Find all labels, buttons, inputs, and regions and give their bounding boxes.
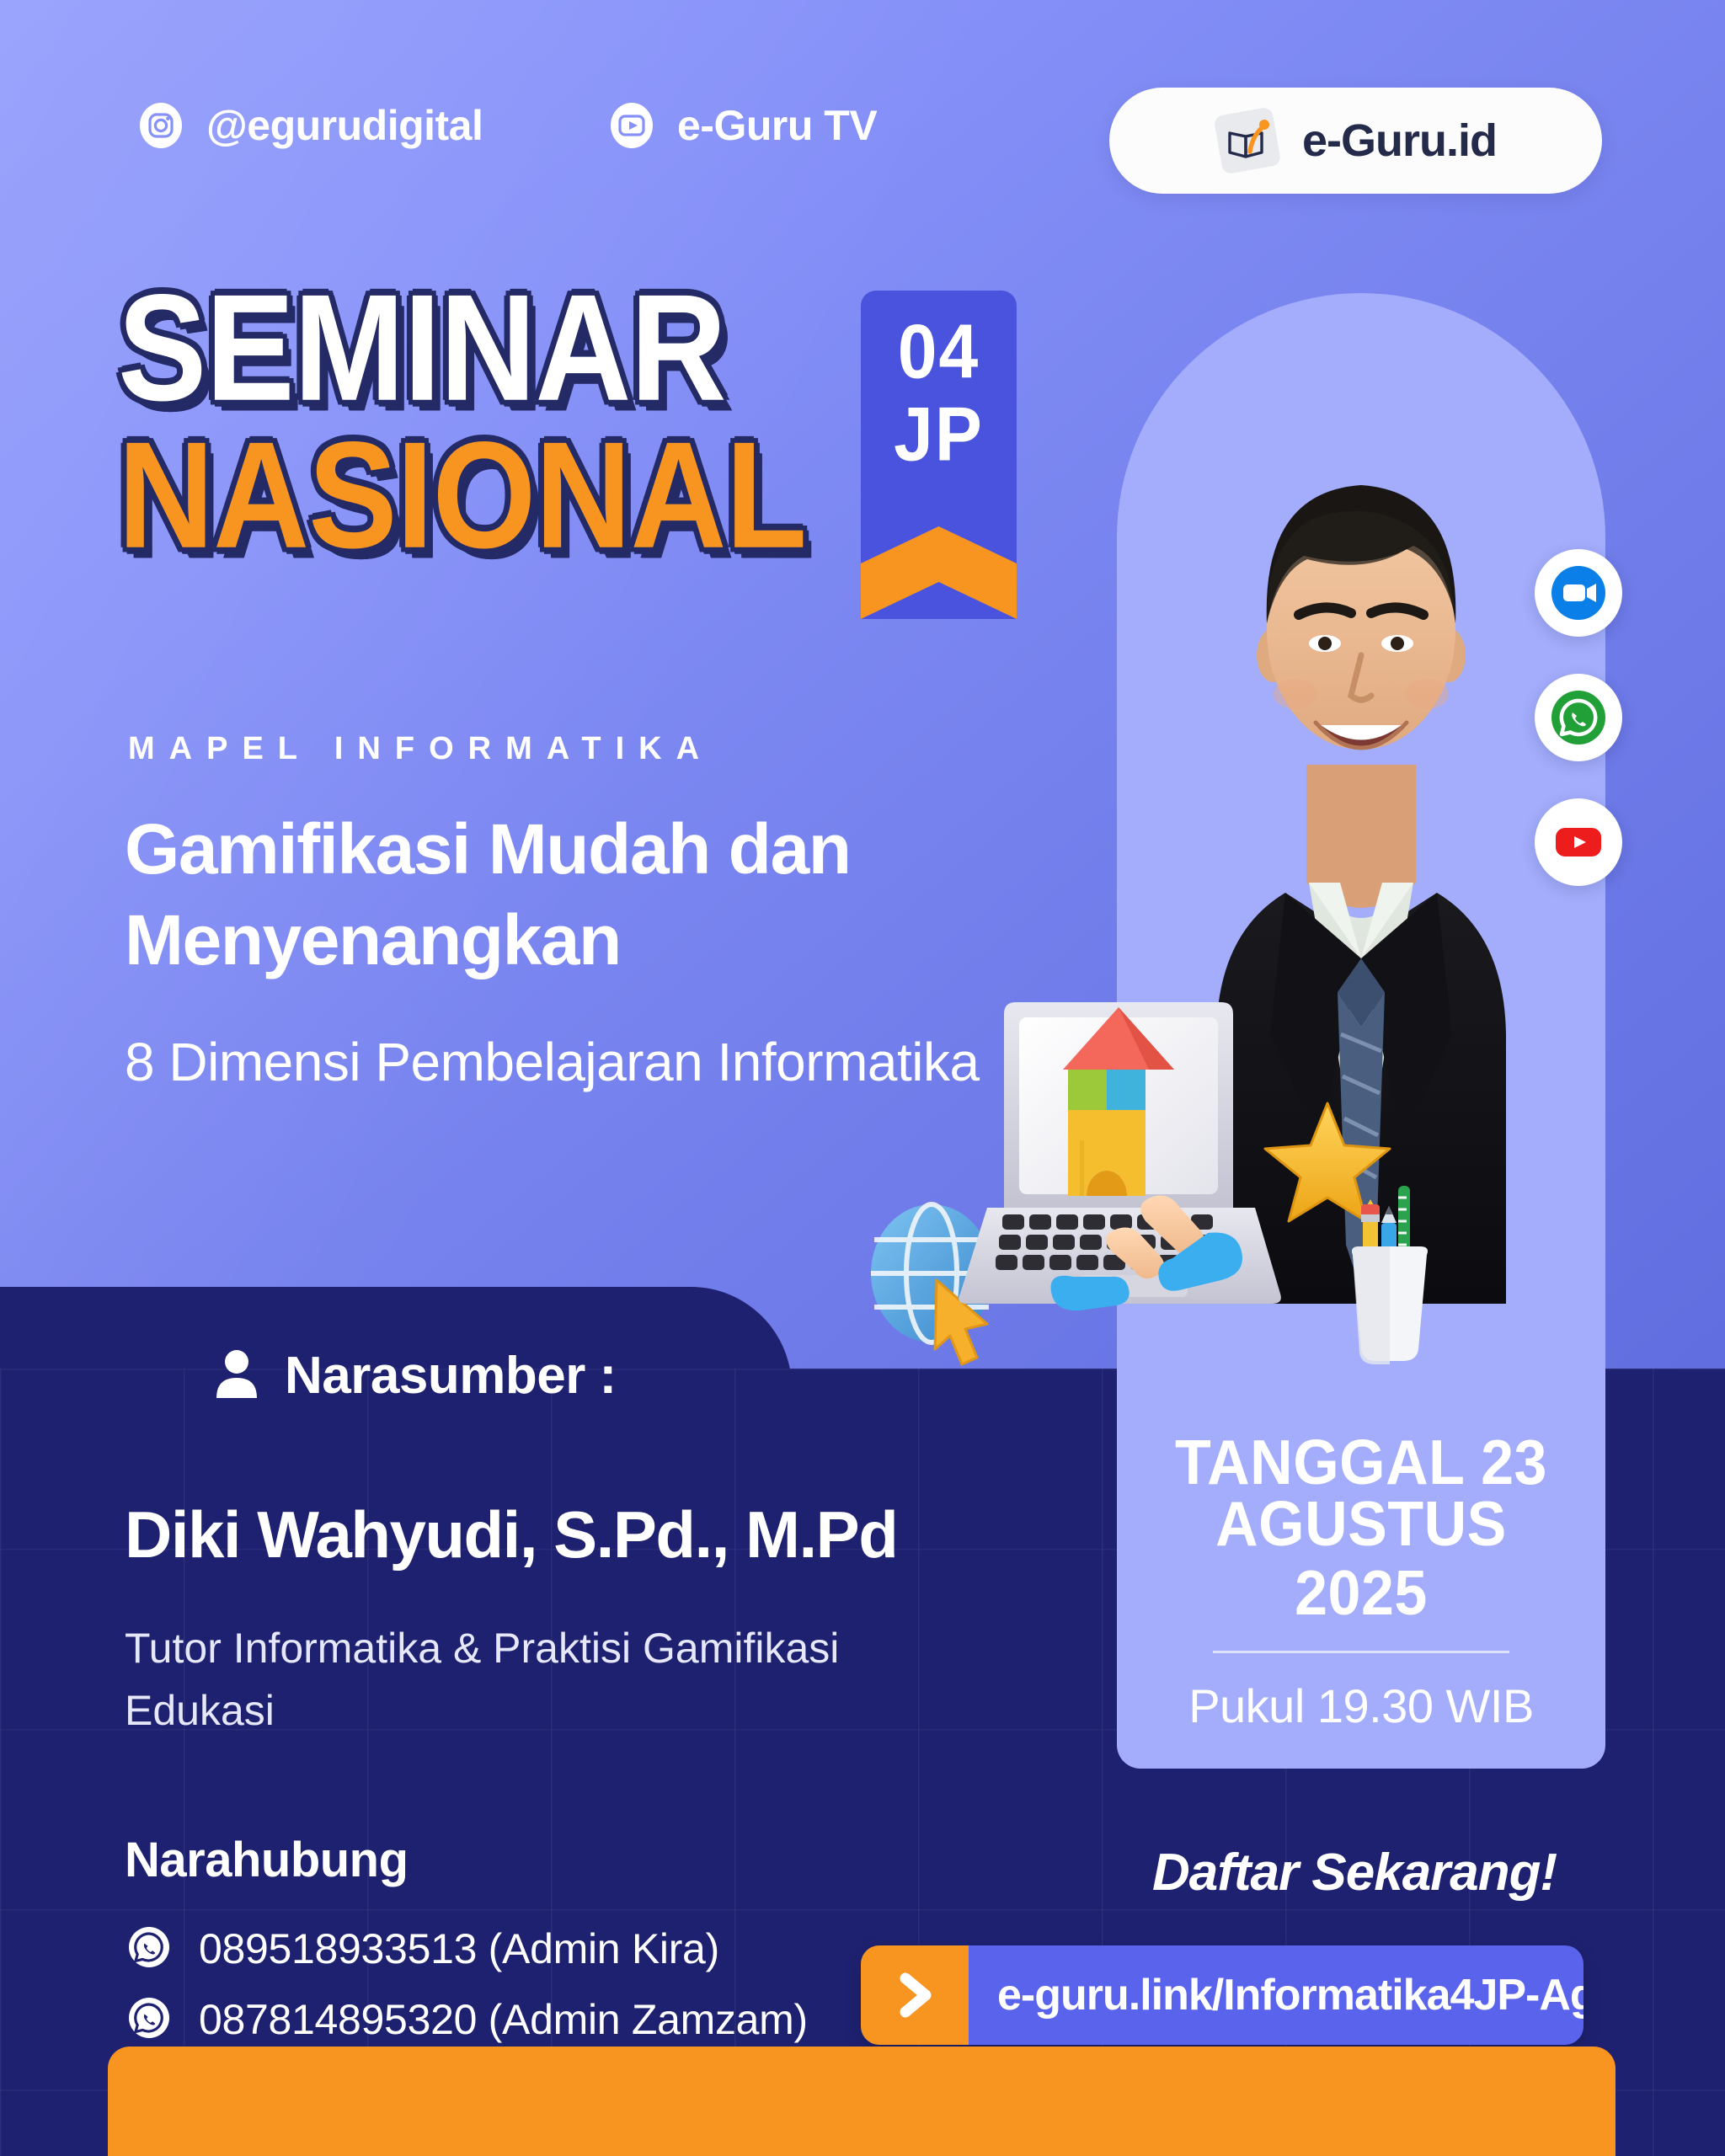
speaker-photo — [1117, 293, 1605, 1304]
whatsapp-icon[interactable] — [1535, 674, 1622, 761]
jp-count: 04 — [898, 313, 980, 390]
book-logo-icon — [1215, 108, 1280, 173]
speaker-section-label: Narasumber : — [285, 1346, 617, 1406]
speaker-role: Tutor Informatika & Praktisi Gamifikasi … — [125, 1617, 933, 1742]
seminar-poster: @egurudigital e-Guru TV e — [0, 0, 1725, 2156]
speaker-name: Diki Wahyudi, S.Pd., M.Pd — [125, 1497, 897, 1573]
register-link-button[interactable]: e-guru.link/Informatika4JP-Ags25 — [861, 1945, 1583, 2045]
title-line-nasional: NASIONAL — [118, 425, 893, 567]
header-instagram[interactable]: @egurudigital — [137, 101, 483, 150]
jp-unit: JP — [894, 396, 984, 472]
header-youtube[interactable]: e-Guru TV — [608, 101, 877, 150]
subject-headline: Gamifikasi Mudah dan Menyenangkan — [125, 804, 1017, 985]
instagram-handle: @egurudigital — [206, 101, 483, 150]
zoom-icon[interactable] — [1535, 549, 1622, 637]
schedule-block: TANGGAL 23 AGUSTUS 2025 Pukul 19.30 WIB — [1117, 1431, 1605, 1733]
register-url: e-guru.link/Informatika4JP-Ags25 — [969, 1945, 1583, 2045]
title-block: SEMINAR NASIONAL — [118, 278, 893, 549]
contact-list: 089518933513 (Admin Kira) 087814895320 (… — [128, 1924, 808, 2044]
title-line-seminar: SEMINAR — [118, 278, 893, 419]
brand-badge[interactable]: e-Guru.id — [1109, 88, 1602, 194]
chevron-right-icon — [861, 1945, 969, 2045]
youtube-icon[interactable] — [1535, 798, 1622, 886]
subject-subheadline: 8 Dimensi Pembelajaran Informatika — [125, 1023, 1034, 1102]
subject-kicker: MAPEL INFORMATIKA — [128, 731, 713, 767]
jp-ribbon-badge: 04 JP — [861, 291, 1017, 619]
cta-heading: Daftar Sekarang! — [1152, 1843, 1557, 1903]
whatsapp-icon — [128, 1926, 170, 1972]
contact-item[interactable]: 087814895320 (Admin Zamzam) — [128, 1995, 808, 2044]
youtube-icon — [608, 102, 655, 149]
person-icon — [212, 1347, 261, 1404]
ribbon-chevron-notch — [861, 526, 1017, 619]
contact-text: 087814895320 (Admin Zamzam) — [199, 1995, 808, 2044]
schedule-divider — [1213, 1651, 1509, 1653]
instagram-icon — [137, 102, 184, 149]
schedule-date-line1: TANGGAL 23 — [1146, 1428, 1577, 1497]
contact-item[interactable]: 089518933513 (Admin Kira) — [128, 1924, 808, 1973]
contact-heading: Narahubung — [125, 1832, 409, 1888]
schedule-time: Pukul 19.30 WIB — [1146, 1678, 1577, 1733]
speaker-section-heading: Narasumber : — [212, 1346, 617, 1406]
bottom-accent-bar — [108, 2047, 1616, 2156]
brand-name: e-Guru.id — [1302, 115, 1497, 167]
whatsapp-icon — [128, 1997, 170, 2043]
platform-icon-list — [1535, 549, 1622, 886]
speaker-date-card: TANGGAL 23 AGUSTUS 2025 Pukul 19.30 WIB — [1117, 293, 1605, 1769]
youtube-channel-name: e-Guru TV — [677, 101, 877, 150]
schedule-date-line2: AGUSTUS 2025 — [1146, 1490, 1577, 1627]
contact-text: 089518933513 (Admin Kira) — [199, 1924, 719, 1973]
